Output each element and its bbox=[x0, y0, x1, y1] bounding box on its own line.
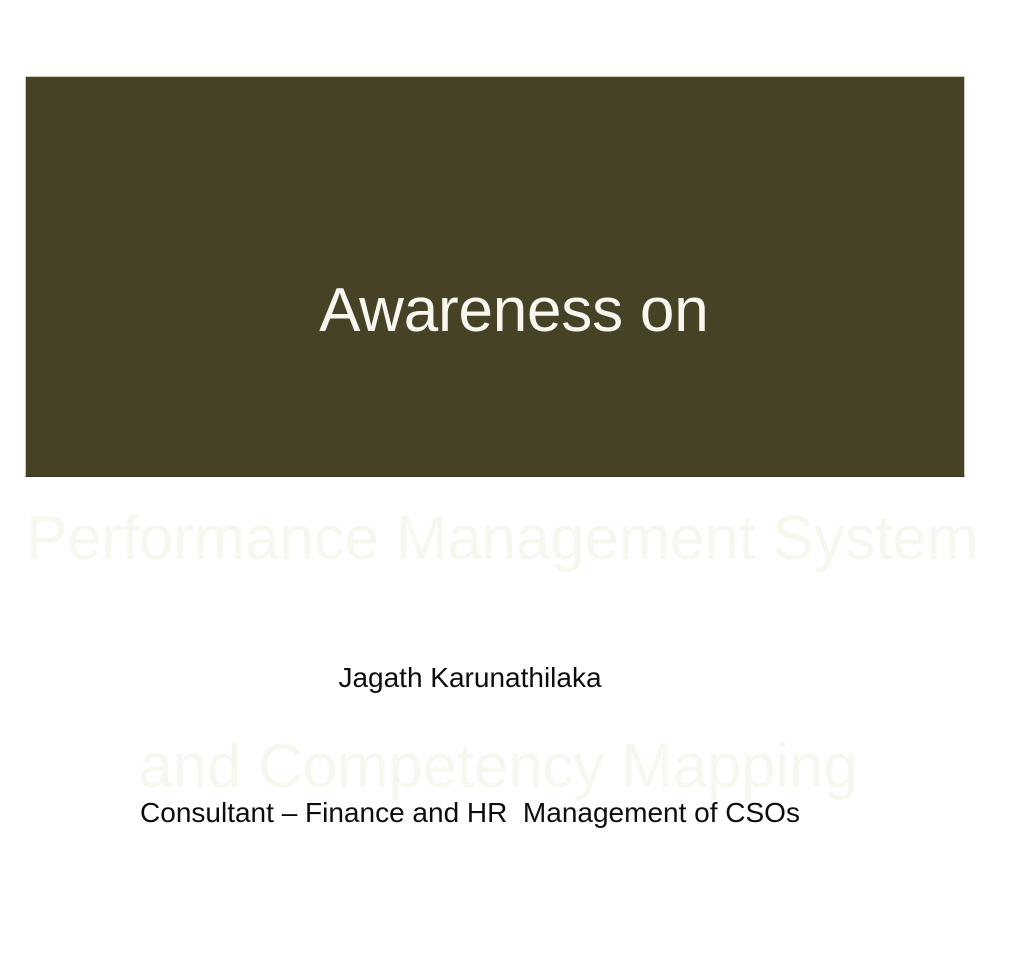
title-slide: Awareness on Performance Management Syst… bbox=[0, 0, 1024, 768]
title-line-1: Awareness on bbox=[26, 273, 966, 349]
presenter-info: Jagath Karunathilaka Consultant – Financ… bbox=[0, 565, 940, 925]
presenter-role: Consultant – Finance and HR Management o… bbox=[0, 790, 940, 835]
title-banner: Awareness on Performance Management Syst… bbox=[25, 76, 965, 477]
presenter-name: Jagath Karunathilaka bbox=[0, 655, 940, 700]
